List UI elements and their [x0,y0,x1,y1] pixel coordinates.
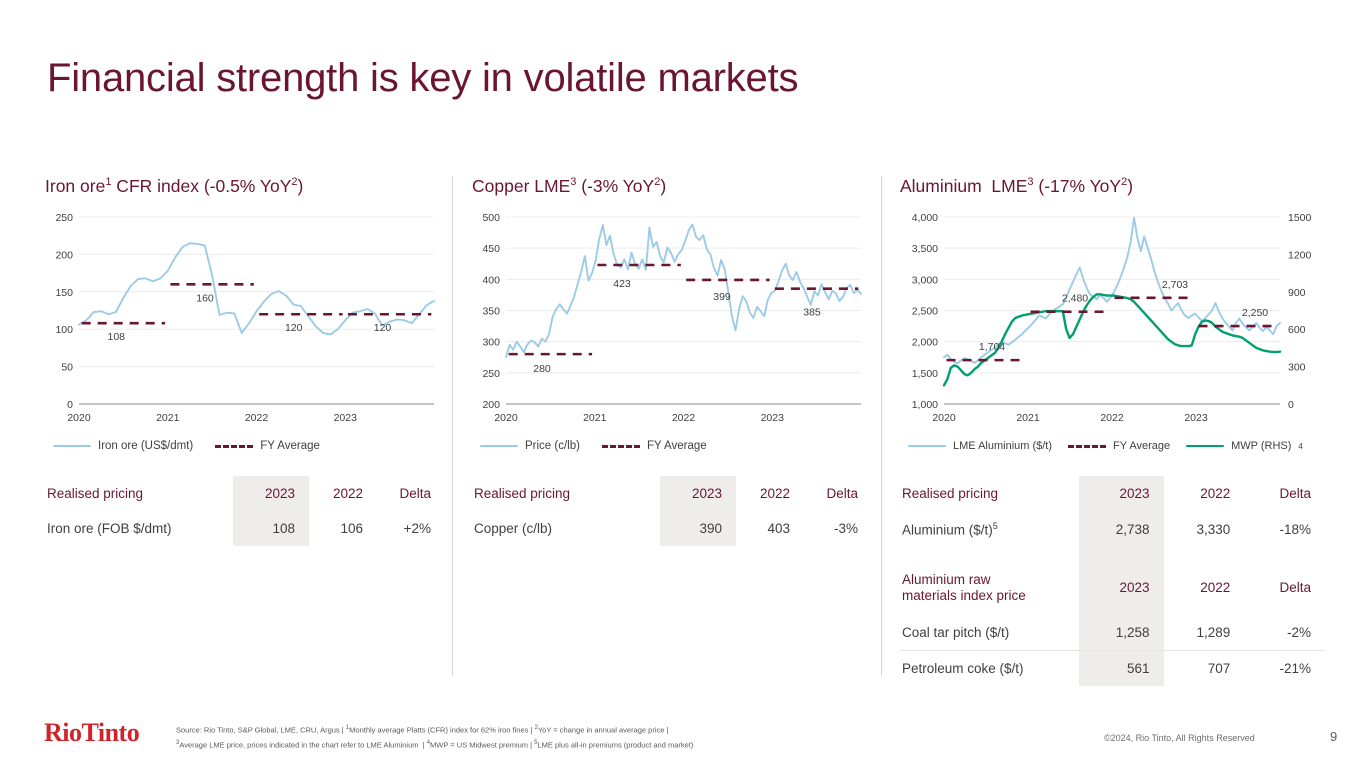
legend-swatch-line-icon [1186,445,1224,448]
svg-text:2022: 2022 [245,412,269,424]
svg-text:1200: 1200 [1288,249,1312,261]
svg-text:2022: 2022 [672,412,696,424]
panel-copper: Copper LME3 (-3% YoY2) 20025030035040045… [472,176,872,546]
svg-text:300: 300 [482,337,500,349]
table-cell-label: Copper (c/lb) [472,511,660,546]
table-header-cell-2022: 2022 [1164,562,1245,616]
svg-text:2,500: 2,500 [912,306,938,318]
legend-swatch-dashed-icon [602,445,640,448]
table-row: Coal tar pitch ($/t) 1,258 1,289 -2% [900,615,1325,651]
table-header-cell-2023: 2023 [1079,476,1164,511]
legend-swatch-line-icon [53,445,91,448]
legend-item-lme-aluminium: LME Aluminium ($/t) [908,440,1052,452]
spacer-cell [1244,548,1325,562]
legend-label: Iron ore (US$/dmt) [98,440,193,452]
legend-item-mwp: MWP (RHS)4 [1186,440,1303,452]
svg-text:50: 50 [61,362,73,374]
svg-text:2,480: 2,480 [1062,293,1088,305]
table-cell-2022: 707 [1164,651,1245,687]
copyright-text: ©2024, Rio Tinto, All Rights Reserved [1104,733,1255,743]
table-cell-2023: 1,258 [1079,615,1164,651]
panel-aluminium: Aluminium LME3 (-17% YoY2) 1,0001,5002,0… [900,176,1325,686]
table-cell-delta: -18% [1244,511,1325,548]
svg-text:2023: 2023 [761,412,785,424]
svg-text:2020: 2020 [67,412,91,424]
svg-text:1,704: 1,704 [979,341,1005,353]
svg-text:2,250: 2,250 [1242,307,1268,319]
panel-title-text-aluminium: Aluminium LME3 (-17% YoY2) [900,176,1133,196]
table-copper: Realised pricing 2023 2022 Delta Copper … [472,476,872,546]
table-row: Iron ore (FOB $/dmt) 108 106 +2% [45,511,445,546]
svg-text:450: 450 [482,243,500,255]
legend-aluminium: LME Aluminium ($/t) FY Average MWP (RHS)… [900,440,1325,452]
rio-tinto-logo: RioTinto [44,718,139,748]
svg-text:280: 280 [533,363,551,375]
legend-label: MWP (RHS) [1231,440,1291,452]
table-row: Petroleum coke ($/t) 561 707 -21% [900,651,1325,687]
table-header-cell-2022: 2022 [309,476,377,511]
svg-text:600: 600 [1288,324,1306,336]
table-header-cell-2022: 2022 [1164,476,1245,511]
table-cell-2023: 390 [660,511,736,546]
panel-title-copper: Copper LME3 (-3% YoY2) [472,176,872,197]
table-cell-label: Petroleum coke ($/t) [900,651,1079,687]
svg-text:2023: 2023 [1184,412,1208,424]
table-aluminium: Realised pricing 2023 2022 Delta Alumini… [900,476,1325,686]
table-cell-2022: 3,330 [1164,511,1245,548]
legend-label-sup: 4 [1298,442,1302,451]
svg-text:0: 0 [67,399,73,411]
table-header-cell: Realised pricing [900,476,1079,511]
svg-text:250: 250 [55,212,73,224]
table-header-row: Realised pricing 2023 2022 Delta [900,476,1325,511]
svg-text:120: 120 [285,322,303,334]
table-cell-label: Iron ore (FOB $/dmt) [45,511,233,546]
legend-item-iron-ore-series: Iron ore (US$/dmt) [53,440,193,452]
legend-label: Price (c/lb) [525,440,580,452]
svg-text:1500: 1500 [1288,212,1312,224]
table-header-cell: Realised pricing [45,476,233,511]
svg-text:160: 160 [196,292,214,304]
spacer-cell [900,548,1079,562]
table-cell-2023: 561 [1079,651,1164,687]
table-cell-label-text: Aluminium ($/t) [902,523,993,538]
table-cell-2022: 106 [309,511,377,546]
panel-title-text-iron-ore: Iron ore1 CFR index (-0.5% YoY2) [45,176,303,196]
table-cell-label: Coal tar pitch ($/t) [900,615,1079,651]
table-cell-2022: 1,289 [1164,615,1245,651]
svg-text:200: 200 [482,399,500,411]
panel-divider-1 [452,176,453,676]
source-note-line2: 3Average LME price, prices indicated in … [176,737,796,752]
legend-label: FY Average [1113,440,1170,452]
table-cell-delta: -3% [804,511,872,546]
legend-swatch-line-icon [908,445,946,448]
table-cell-label: Aluminium ($/t)5 [900,511,1079,548]
table-iron-ore: Realised pricing 2023 2022 Delta Iron or… [45,476,445,546]
svg-text:350: 350 [482,306,500,318]
page-title: Financial strength is key in volatile ma… [47,56,798,101]
legend-label: FY Average [260,440,320,452]
svg-text:1,000: 1,000 [912,399,938,411]
chart-aluminium: 1,0001,5002,0002,5003,0003,5004,00003006… [900,209,1325,434]
legend-label: FY Average [647,440,707,452]
table-header-row-2: Aluminium raw materials index price 2023… [900,562,1325,616]
table-cell-delta: +2% [377,511,445,546]
table-cell-delta: -21% [1244,651,1325,687]
header2-line1: Aluminium raw [902,572,991,587]
svg-text:900: 900 [1288,287,1306,299]
slide-root: Financial strength is key in volatile ma… [0,0,1365,768]
svg-text:385: 385 [803,307,821,319]
svg-text:400: 400 [482,274,500,286]
legend-copper: Price (c/lb) FY Average [472,440,872,452]
table-cell-label-sup: 5 [993,521,998,531]
svg-text:0: 0 [1288,399,1294,411]
source-note: Source: Rio Tinto, S&P Global, LME, CRU,… [176,722,796,751]
table-row: Aluminium ($/t)5 2,738 3,330 -18% [900,511,1325,548]
svg-text:2021: 2021 [583,412,607,424]
table-header-row: Realised pricing 2023 2022 Delta [45,476,445,511]
legend-iron-ore: Iron ore (US$/dmt) FY Average [45,440,445,452]
table-header-cell-2023: 2023 [233,476,309,511]
legend-swatch-line-icon [480,445,518,448]
panel-iron-ore: Iron ore1 CFR index (-0.5% YoY2) 0501001… [45,176,445,546]
svg-text:1,500: 1,500 [912,368,938,380]
svg-text:3,000: 3,000 [912,274,938,286]
svg-text:2023: 2023 [334,412,358,424]
table-row: Copper (c/lb) 390 403 -3% [472,511,872,546]
svg-text:100: 100 [55,324,73,336]
table-header-cell: Realised pricing [472,476,660,511]
svg-text:500: 500 [482,212,500,224]
svg-text:200: 200 [55,249,73,261]
svg-text:2,703: 2,703 [1162,279,1188,291]
table-header-cell-raw-materials: Aluminium raw materials index price [900,562,1079,616]
table-header-cell-2023: 2023 [660,476,736,511]
source-note-line1: Source: Rio Tinto, S&P Global, LME, CRU,… [176,722,796,737]
svg-text:423: 423 [613,278,631,290]
legend-swatch-dashed-icon [215,445,253,448]
svg-text:3,500: 3,500 [912,243,938,255]
legend-label: LME Aluminium ($/t) [953,440,1052,452]
page-number: 9 [1330,729,1337,744]
svg-text:250: 250 [482,368,500,380]
table-cell-delta: -2% [1244,615,1325,651]
chart-svg-iron-ore: 0501001502002502020202120222023108160120… [45,209,440,434]
table-header-cell-2023: 2023 [1079,562,1164,616]
svg-text:108: 108 [108,331,126,343]
table-header-cell-delta: Delta [804,476,872,511]
chart-svg-copper: 2002503003504004505002020202120222023280… [472,209,867,434]
table-header-row: Realised pricing 2023 2022 Delta [472,476,872,511]
svg-text:2021: 2021 [156,412,180,424]
panel-title-text-copper: Copper LME3 (-3% YoY2) [472,176,666,196]
legend-item-fy-average: FY Average [602,440,707,452]
table-cell-2023: 108 [233,511,309,546]
svg-text:4,000: 4,000 [912,212,938,224]
table-header-cell-delta: Delta [1244,476,1325,511]
svg-text:2020: 2020 [494,412,518,424]
table-header-cell-delta: Delta [377,476,445,511]
chart-svg-aluminium: 1,0001,5002,0002,5003,0003,5004,00003006… [900,209,1322,434]
svg-text:2022: 2022 [1100,412,1124,424]
panel-title-iron-ore: Iron ore1 CFR index (-0.5% YoY2) [45,176,445,197]
spacer-cell-2023 [1079,548,1164,562]
svg-text:300: 300 [1288,362,1306,374]
panel-divider-2 [881,176,882,676]
svg-text:120: 120 [374,322,392,334]
table-spacer-row [900,548,1325,562]
legend-item-fy-average: FY Average [1068,440,1170,452]
header2-line2: materials index price [902,588,1026,603]
chart-iron-ore: 0501001502002502020202120222023108160120… [45,209,445,434]
svg-text:399: 399 [713,291,731,303]
table-cell-2022: 403 [736,511,804,546]
svg-text:2021: 2021 [1016,412,1040,424]
spacer-cell [1164,548,1245,562]
svg-text:2020: 2020 [932,412,956,424]
table-header-cell-2022: 2022 [736,476,804,511]
svg-text:2,000: 2,000 [912,337,938,349]
legend-item-fy-average: FY Average [215,440,320,452]
table-header-cell-delta: Delta [1244,562,1325,616]
panel-title-aluminium: Aluminium LME3 (-17% YoY2) [900,176,1325,197]
table-cell-2023: 2,738 [1079,511,1164,548]
legend-swatch-dashed-icon [1068,445,1106,448]
chart-copper: 2002503003504004505002020202120222023280… [472,209,872,434]
svg-text:150: 150 [55,287,73,299]
legend-item-copper-series: Price (c/lb) [480,440,580,452]
